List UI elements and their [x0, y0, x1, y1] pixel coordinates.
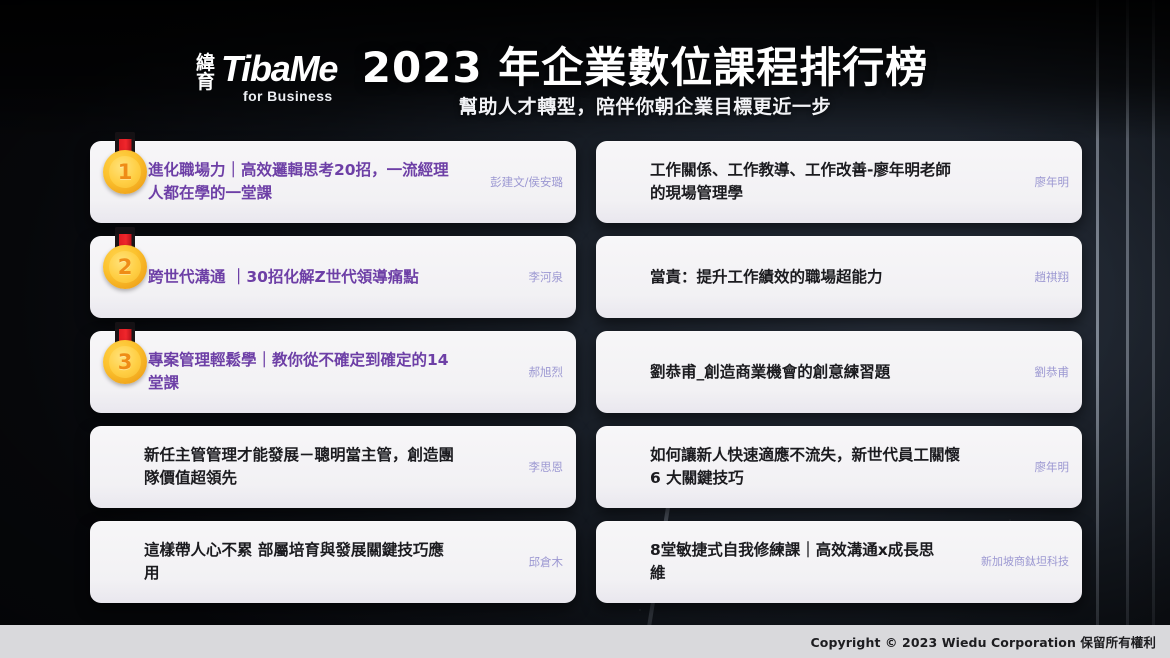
- course-author: 廖年明: [973, 175, 1082, 190]
- course-title: 當責：提升工作績效的職場超能力: [650, 266, 965, 289]
- course-card[interactable]: 工作關係、工作教導、工作改善-廖年明老師的現場管理學 廖年明: [596, 141, 1082, 223]
- slide-canvas: 緯 育 TibaMe for Business 2023 年企業數位課程排行榜 …: [0, 0, 1170, 658]
- course-title: 專案管理輕鬆學｜教你從不確定到確定的14堂課: [148, 349, 459, 395]
- medal-ribbon: [115, 322, 135, 348]
- page-subtitle: 幫助人才轉型，陪伴你朝企業目標更近一步: [0, 92, 1170, 119]
- course-author: 李河泉: [467, 270, 576, 285]
- slide-footer: Copyright © 2023 Wiedu Corporation 保留所有權…: [0, 625, 1170, 658]
- course-author: 李思恩: [467, 460, 576, 475]
- course-card[interactable]: 劉恭甫_創造商業機會的創意練習題 劉恭甫: [596, 331, 1082, 413]
- course-card[interactable]: 如何讓新人快速適應不流失，新世代員工關懷 6 大關鍵技巧 廖年明: [596, 426, 1082, 508]
- course-card[interactable]: 新任主管管理才能發展－聰明當主管，創造團隊價值超領先 李思恩: [90, 426, 576, 508]
- course-author: 趙祺翔: [973, 270, 1082, 285]
- course-author: 彭建文/侯安璐: [467, 175, 576, 190]
- course-title: 跨世代溝通 ｜30招化解Z世代領導痛點: [148, 266, 459, 289]
- course-title: 如何讓新人快速適應不流失，新世代員工關懷 6 大關鍵技巧: [650, 444, 965, 490]
- course-title: 8堂敏捷式自我修練課｜高效溝通x成長思維: [650, 539, 937, 585]
- course-author: 邱倉木: [467, 555, 576, 570]
- course-card-body: 如何讓新人快速適應不流失，新世代員工關懷 6 大關鍵技巧: [596, 444, 973, 490]
- course-card-body: 8堂敏捷式自我修練課｜高效溝通x成長思維: [596, 539, 945, 585]
- course-ranking-grid: 1 進化職場力｜高效邏輯思考20招，一流經理人都在學的一堂課 彭建文/侯安璐 工…: [90, 141, 1082, 603]
- course-title: 進化職場力｜高效邏輯思考20招，一流經理人都在學的一堂課: [148, 159, 459, 205]
- course-title: 新任主管管理才能發展－聰明當主管，創造團隊價值超領先: [144, 444, 459, 490]
- course-author: 新加坡商鈦坦科技: [945, 555, 1082, 569]
- course-card-body: 劉恭甫_創造商業機會的創意練習題: [596, 361, 973, 384]
- slide-header: 緯 育 TibaMe for Business 2023 年企業數位課程排行榜 …: [0, 0, 1170, 130]
- course-author: 劉恭甫: [973, 365, 1082, 380]
- course-card-body: 工作關係、工作教導、工作改善-廖年明老師的現場管理學: [596, 159, 973, 205]
- course-card[interactable]: 1 進化職場力｜高效邏輯思考20招，一流經理人都在學的一堂課 彭建文/侯安璐: [90, 141, 576, 223]
- course-card[interactable]: 當責：提升工作績效的職場超能力 趙祺翔: [596, 236, 1082, 318]
- course-card[interactable]: 8堂敏捷式自我修練課｜高效溝通x成長思維 新加坡商鈦坦科技: [596, 521, 1082, 603]
- course-card[interactable]: 3 專案管理輕鬆學｜教你從不確定到確定的14堂課 郝旭烈: [90, 331, 576, 413]
- course-card-body: 跨世代溝通 ｜30招化解Z世代領導痛點: [90, 266, 467, 289]
- course-card[interactable]: 2 跨世代溝通 ｜30招化解Z世代領導痛點 李河泉: [90, 236, 576, 318]
- medal-ribbon: [115, 227, 135, 253]
- page-title: 2023 年企業數位課程排行榜: [0, 34, 1170, 95]
- course-author: 廖年明: [973, 460, 1082, 475]
- course-card-body: 進化職場力｜高效邏輯思考20招，一流經理人都在學的一堂課: [90, 159, 467, 205]
- course-card[interactable]: 這樣帶人心不累 部屬培育與發展關鍵技巧應用 邱倉木: [90, 521, 576, 603]
- course-title: 工作關係、工作教導、工作改善-廖年明老師的現場管理學: [650, 159, 965, 205]
- copyright-text: Copyright © 2023 Wiedu Corporation 保留所有權…: [811, 632, 1170, 651]
- course-author: 郝旭烈: [467, 365, 576, 380]
- course-title: 這樣帶人心不累 部屬培育與發展關鍵技巧應用: [144, 539, 459, 585]
- course-card-body: 這樣帶人心不累 部屬培育與發展關鍵技巧應用: [90, 539, 467, 585]
- course-title: 劉恭甫_創造商業機會的創意練習題: [650, 361, 965, 384]
- course-card-body: 新任主管管理才能發展－聰明當主管，創造團隊價值超領先: [90, 444, 467, 490]
- course-card-body: 當責：提升工作績效的職場超能力: [596, 266, 973, 289]
- course-card-body: 專案管理輕鬆學｜教你從不確定到確定的14堂課: [90, 349, 467, 395]
